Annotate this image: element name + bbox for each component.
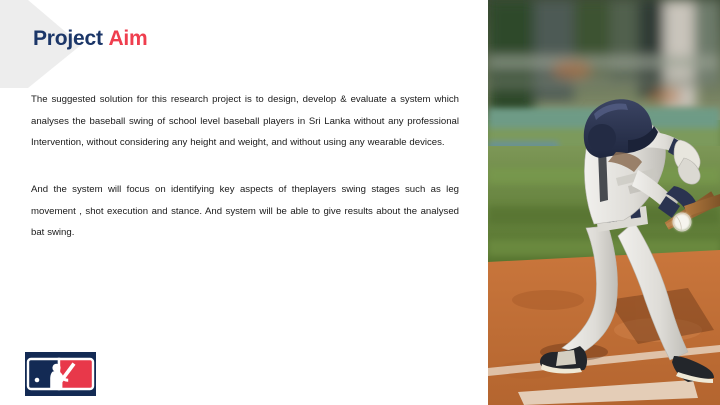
mlb-logo [25, 352, 96, 396]
photo-artwork [488, 0, 720, 405]
page-title: Project Aim [33, 27, 148, 50]
left-content-column: Project Aim The suggested solution for t… [0, 0, 488, 405]
slide: Project Aim The suggested solution for t… [0, 0, 720, 405]
paragraph-2: And the system will focus on identifying… [31, 179, 459, 244]
paragraph-1: The suggested solution for this research… [31, 89, 459, 154]
body-copy: The suggested solution for this research… [31, 89, 459, 244]
title-main-word: Project [33, 27, 103, 50]
title-accent-word: Aim [108, 27, 147, 50]
baseball-batter-photo [488, 0, 720, 405]
